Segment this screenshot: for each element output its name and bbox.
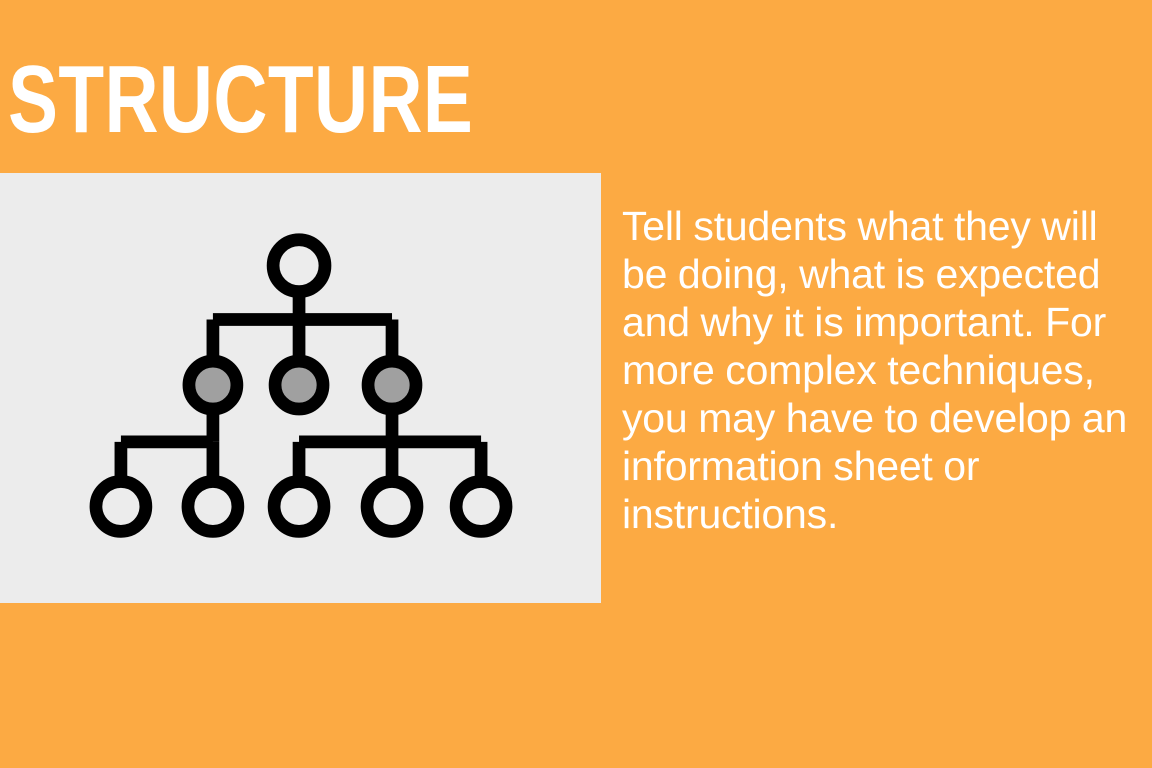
- node-leaf-4: [367, 481, 417, 531]
- node-mid-2: [275, 361, 323, 409]
- illustration-panel: [0, 173, 601, 603]
- node-mid-1: [188, 361, 236, 409]
- node-leaf-3: [274, 481, 324, 531]
- page-title: STRUCTURE: [8, 52, 473, 148]
- nodes: [95, 240, 505, 532]
- node-mid-3: [368, 361, 416, 409]
- node-root: [273, 240, 325, 292]
- node-leaf-5: [456, 481, 506, 531]
- node-leaf-2: [187, 481, 237, 531]
- node-leaf-1: [95, 481, 145, 531]
- hierarchy-org-chart-icon: [71, 223, 531, 553]
- body-paragraph: Tell students what they will be doing, w…: [622, 202, 1140, 538]
- slide-canvas: STRUCTURE: [0, 0, 1152, 768]
